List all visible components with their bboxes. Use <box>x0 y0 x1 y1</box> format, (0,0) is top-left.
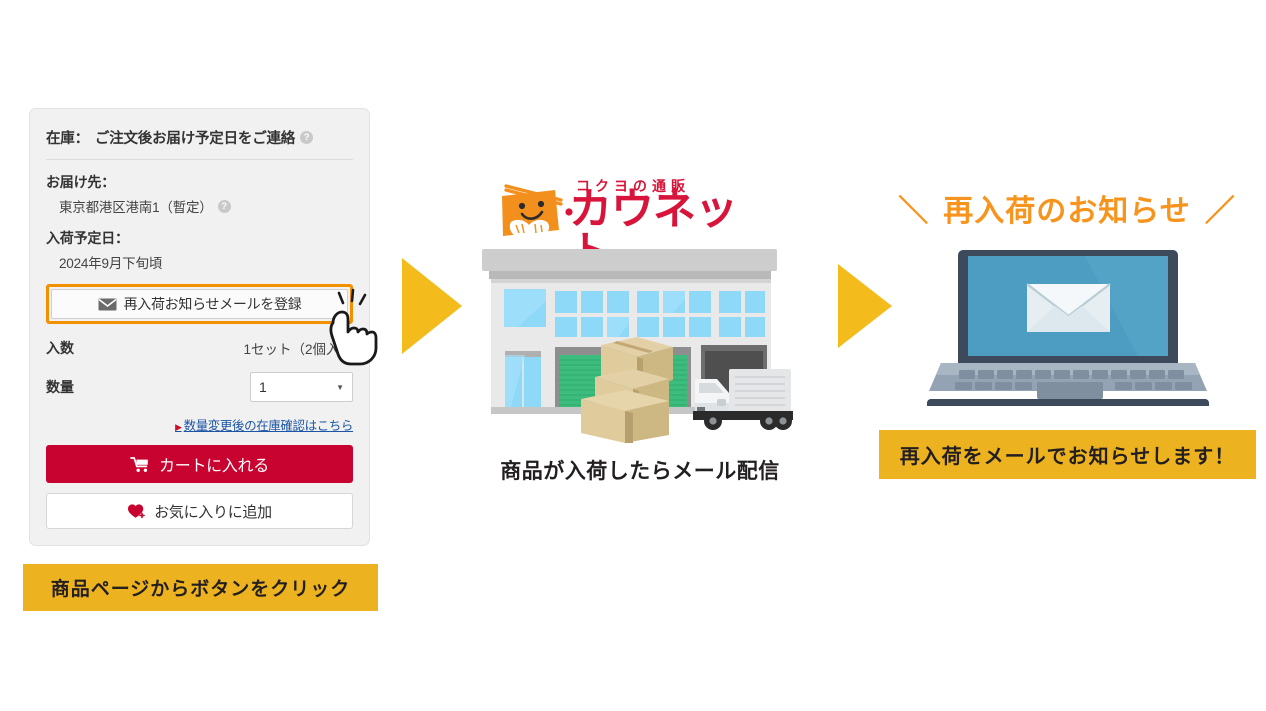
right-arrow-triangle <box>402 258 462 354</box>
stock-recheck-link-label: 数量変更後の在庫確認はこちら <box>184 419 353 433</box>
step2-caption: 商品が入荷したらメール配信 <box>470 455 810 485</box>
arrival-date-block: 入荷予定日： 2024年9月下旬頃 <box>46 228 353 272</box>
shipping-destination-block: お届け先： 東京都港区港南1（暫定） ? <box>46 172 353 216</box>
slash-right-decoration: ／ <box>1205 186 1236 230</box>
step1-caption: 商品ページからボタンをクリック <box>23 564 378 611</box>
quantity-select-value: 1 <box>259 379 267 395</box>
laptop-with-envelope-illustration <box>925 244 1211 412</box>
stock-value: ご注文後お届け予定日をご連絡 <box>95 127 295 148</box>
shipping-destination-value: 東京都港区港南1（暫定） <box>59 196 213 216</box>
restock-notice-headline: ＼ 再入荷のお知らせ ／ <box>884 186 1250 230</box>
chevron-down-icon: ▼ <box>336 383 344 392</box>
heart-plus-icon <box>127 503 146 519</box>
arrival-date-value: 2024年9月下旬頃 <box>46 252 353 272</box>
question-mark-icon[interactable]: ? <box>300 131 313 144</box>
quantity-select[interactable]: 1 ▼ <box>250 372 353 402</box>
add-to-cart-button[interactable]: カートに入れる <box>46 445 353 483</box>
step3-caption: 再入荷をメールでお知らせします！ <box>879 430 1256 479</box>
stock-recheck-link[interactable]: ▶数量変更後の在庫確認はこちら <box>46 415 353 434</box>
cart-icon <box>130 456 151 473</box>
shipping-destination-value-row: 東京都港区港南1（暫定） ? <box>46 196 353 216</box>
quantity-row: 数量 1 ▼ <box>46 372 353 402</box>
add-to-favorites-button[interactable]: お気に入りに追加 <box>46 493 353 529</box>
stock-status-row: 在庫： ご注文後お届け予定日をご連絡 ? <box>46 127 353 148</box>
restock-mail-register-button[interactable]: 再入荷お知らせメールを登録 <box>51 289 348 319</box>
mail-register-highlight-frame: 再入荷お知らせメールを登録 <box>46 284 353 324</box>
divider <box>46 159 353 160</box>
slide-canvas: 在庫： ご注文後お届け予定日をご連絡 ? お届け先： 東京都港区港南1（暫定） … <box>0 0 1266 711</box>
unit-quantity-row: 入数 1セット（2個入） <box>46 338 353 358</box>
warehouse-with-boxes-and-truck-illustration <box>477 247 807 443</box>
right-arrow-triangle <box>838 264 892 348</box>
envelope-icon <box>98 298 117 311</box>
arrival-date-label: 入荷予定日： <box>46 228 353 248</box>
stock-label: 在庫： <box>46 127 89 148</box>
restock-notice-headline-text: 再入荷のお知らせ <box>943 186 1190 230</box>
quantity-label: 数量 <box>46 377 74 397</box>
triangle-bullet-icon: ▶ <box>175 422 182 432</box>
add-to-favorites-label: お気に入りに追加 <box>154 501 272 522</box>
unit-quantity-label: 入数 <box>46 338 74 358</box>
kaunet-logo: コクヨの通販 カウネット <box>489 176 769 250</box>
slash-left-decoration: ＼ <box>898 186 929 230</box>
restock-mail-register-label: 再入荷お知らせメールを登録 <box>124 294 302 314</box>
question-mark-icon[interactable]: ? <box>218 200 231 213</box>
add-to-cart-label: カートに入れる <box>159 452 269 476</box>
shipping-destination-label: お届け先： <box>46 172 353 192</box>
pointing-hand-cursor <box>319 287 391 367</box>
smiling-box-mascot-icon <box>489 180 573 250</box>
